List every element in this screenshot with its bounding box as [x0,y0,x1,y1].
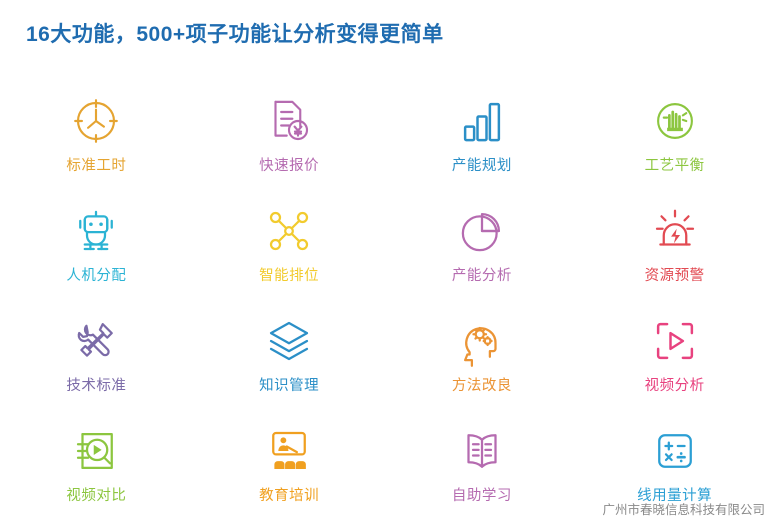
feature-item[interactable]: 智能排位 [193,196,386,306]
feature-item[interactable]: 方法改良 [386,306,579,416]
feature-grid: 标准工时 快速报价 产能规划 工艺平衡 [0,86,771,526]
page-title: 16大功能，500+项子功能让分析变得更简单 [26,18,444,48]
pie-chart-icon [453,202,511,260]
feature-item[interactable]: 工艺平衡 [578,86,771,196]
training-classroom-icon [260,422,318,480]
feature-label: 教育培训 [259,489,319,504]
feature-label: 技术标准 [66,379,126,394]
feature-label: 人机分配 [66,269,126,284]
feature-item[interactable]: 自助学习 [386,416,579,526]
feature-label: 智能排位 [259,269,319,284]
video-compare-icon [67,422,125,480]
feature-item[interactable]: 产能规划 [386,86,579,196]
feature-item[interactable]: 视频对比 [0,416,193,526]
watermark-text: 广州市春晓信息科技有限公司 [602,499,765,518]
alarm-siren-icon [646,202,704,260]
feature-item[interactable]: 技术标准 [0,306,193,416]
feature-label: 标准工时 [66,159,126,174]
feature-label: 工艺平衡 [645,159,705,174]
clock-icon [67,92,125,150]
feature-item[interactable]: 快速报价 [193,86,386,196]
document-yen-icon [260,92,318,150]
feature-label: 快速报价 [259,159,319,174]
open-book-icon [453,422,511,480]
robot-icon [67,202,125,260]
feature-label: 视频对比 [66,489,126,504]
wrench-hammer-icon [67,312,125,370]
feature-label: 产能分析 [452,269,512,284]
network-nodes-icon [260,202,318,260]
process-balance-icon [646,92,704,150]
feature-label: 资源预警 [645,269,705,284]
feature-item[interactable]: 人机分配 [0,196,193,306]
feature-item[interactable]: 教育培训 [193,416,386,526]
calculator-icon [646,422,704,480]
layers-stack-icon [260,312,318,370]
feature-label: 方法改良 [452,379,512,394]
feature-label: 知识管理 [259,379,319,394]
feature-item[interactable]: 知识管理 [193,306,386,416]
video-play-frame-icon [646,312,704,370]
head-gears-icon [453,312,511,370]
feature-item[interactable]: 标准工时 [0,86,193,196]
feature-label: 视频分析 [645,379,705,394]
feature-label: 产能规划 [452,159,512,174]
feature-label: 自助学习 [452,489,512,504]
bar-chart-icon [453,92,511,150]
feature-item[interactable]: 视频分析 [578,306,771,416]
feature-item[interactable]: 产能分析 [386,196,579,306]
feature-item[interactable]: 资源预警 [578,196,771,306]
